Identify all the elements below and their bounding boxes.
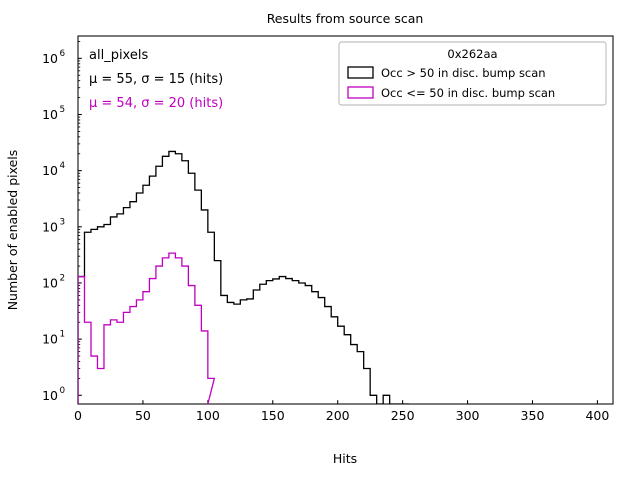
svg-text:10: 10 xyxy=(42,51,58,66)
svg-text:10: 10 xyxy=(42,163,58,178)
svg-text:6: 6 xyxy=(60,49,66,59)
x-tick-label: 100 xyxy=(196,408,220,423)
svg-text:10: 10 xyxy=(42,275,58,290)
x-tick-labels: 050100150200250300350400 xyxy=(74,408,609,423)
histogram-step-series-2 xyxy=(78,253,214,404)
plot-annotations: all_pixelsμ = 55, σ = 15 (hits)μ = 54, σ… xyxy=(89,48,223,111)
y-tick-label: 102 xyxy=(42,273,65,290)
annotation-line-1: all_pixels xyxy=(89,48,148,63)
y-tick-label: 101 xyxy=(42,330,65,347)
x-tick-label: 400 xyxy=(585,408,609,423)
x-tick-label: 150 xyxy=(261,408,285,423)
figure-canvas: 050100150200250300350400 100101102103104… xyxy=(0,0,640,480)
svg-text:10: 10 xyxy=(42,388,58,403)
y-tick-label: 104 xyxy=(42,161,65,178)
svg-text:10: 10 xyxy=(42,219,58,234)
y-tick-label: 103 xyxy=(42,217,65,234)
svg-text:0: 0 xyxy=(60,386,66,396)
legend-title: 0x262aa xyxy=(447,47,497,61)
x-tick-label: 50 xyxy=(135,408,151,423)
svg-text:2: 2 xyxy=(60,273,66,283)
x-tick-label: 350 xyxy=(521,408,545,423)
legend-label: Occ <= 50 in disc. bump scan xyxy=(381,86,555,100)
svg-text:1: 1 xyxy=(60,330,66,340)
y-tick-label: 106 xyxy=(42,49,65,66)
histogram-step-series-1 xyxy=(78,151,409,404)
histogram-plot: 050100150200250300350400 100101102103104… xyxy=(0,0,640,480)
legend: 0x262aaOcc > 50 in disc. bump scanOcc <=… xyxy=(339,42,606,105)
y-tick-label: 105 xyxy=(42,105,65,122)
x-axis-label: Hits xyxy=(333,451,357,466)
page-title: Results from source scan xyxy=(267,11,424,26)
legend-label: Occ > 50 in disc. bump scan xyxy=(381,66,546,80)
x-tick-label: 300 xyxy=(456,408,480,423)
x-tick-label: 250 xyxy=(391,408,415,423)
svg-text:10: 10 xyxy=(42,332,58,347)
annotation-line-2: μ = 55, σ = 15 (hits) xyxy=(89,72,223,87)
svg-text:5: 5 xyxy=(60,105,66,115)
x-tick-label: 0 xyxy=(74,408,82,423)
histogram-series xyxy=(78,151,409,404)
svg-text:10: 10 xyxy=(42,107,58,122)
annotation-line-3: μ = 54, σ = 20 (hits) xyxy=(89,96,223,111)
svg-text:4: 4 xyxy=(60,161,66,171)
y-tick-label: 100 xyxy=(42,386,65,403)
y-axis-label: Number of enabled pixels xyxy=(5,150,20,311)
y-tick-labels: 100101102103104105106 xyxy=(42,49,65,403)
svg-text:3: 3 xyxy=(60,217,66,227)
x-tick-label: 200 xyxy=(326,408,350,423)
